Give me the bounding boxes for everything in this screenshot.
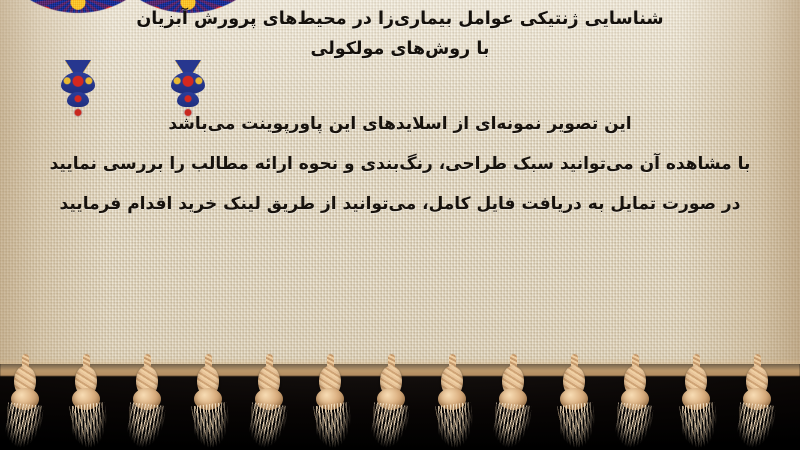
slide-body: این تصویر نمونه‌ای از اسلایدهای این پاور… <box>0 104 800 224</box>
body-line-2: با مشاهده آن می‌توانید سبک طراحی، رنگ‌بن… <box>0 144 800 184</box>
fringe-tassel <box>372 366 412 448</box>
fringe-tassel <box>494 366 534 448</box>
tassel-skirt <box>313 402 354 450</box>
tassel-skirt <box>491 402 531 450</box>
fringe-tassel <box>128 366 168 448</box>
fringe-tassel <box>189 366 229 448</box>
tassel-skirt <box>3 402 43 450</box>
tassel-skirt <box>69 402 110 450</box>
tassel-skirt <box>679 402 720 450</box>
body-line-3: در صورت تمایل به دریافت فایل کامل، می‌تو… <box>0 184 800 224</box>
fringe-tassel <box>311 366 351 448</box>
tassel-skirt <box>247 402 287 450</box>
fringe-tassel <box>433 366 473 448</box>
body-line-1: این تصویر نمونه‌ای از اسلایدهای این پاور… <box>0 104 800 144</box>
tassel-skirt <box>735 402 775 450</box>
tassel-skirt <box>435 402 476 450</box>
medallion-drop-large <box>61 72 95 94</box>
fringe-tassel <box>738 366 778 448</box>
tassel-skirt <box>125 402 165 450</box>
fringe-tassel <box>677 366 717 448</box>
medallion-body <box>130 0 246 66</box>
presentation-slide: شناسایی ژنتیکی عوامل بیماری‌زا در محیط‌ه… <box>0 0 800 450</box>
fringe-tassel <box>250 366 290 448</box>
tassel-skirt <box>557 402 598 450</box>
fringe-tassel <box>6 366 46 448</box>
tassel-skirt <box>369 402 409 450</box>
medallion-drop-large <box>171 72 205 94</box>
persian-medallion-left-icon <box>20 0 136 98</box>
tassel-skirt <box>191 402 232 450</box>
persian-medallion-right-icon <box>130 0 246 98</box>
medallion-body <box>20 0 136 66</box>
fringe-tassel <box>616 366 656 448</box>
tassel-skirt <box>613 402 653 450</box>
fringe-tassel <box>555 366 595 448</box>
fringe-tassel <box>67 366 107 448</box>
